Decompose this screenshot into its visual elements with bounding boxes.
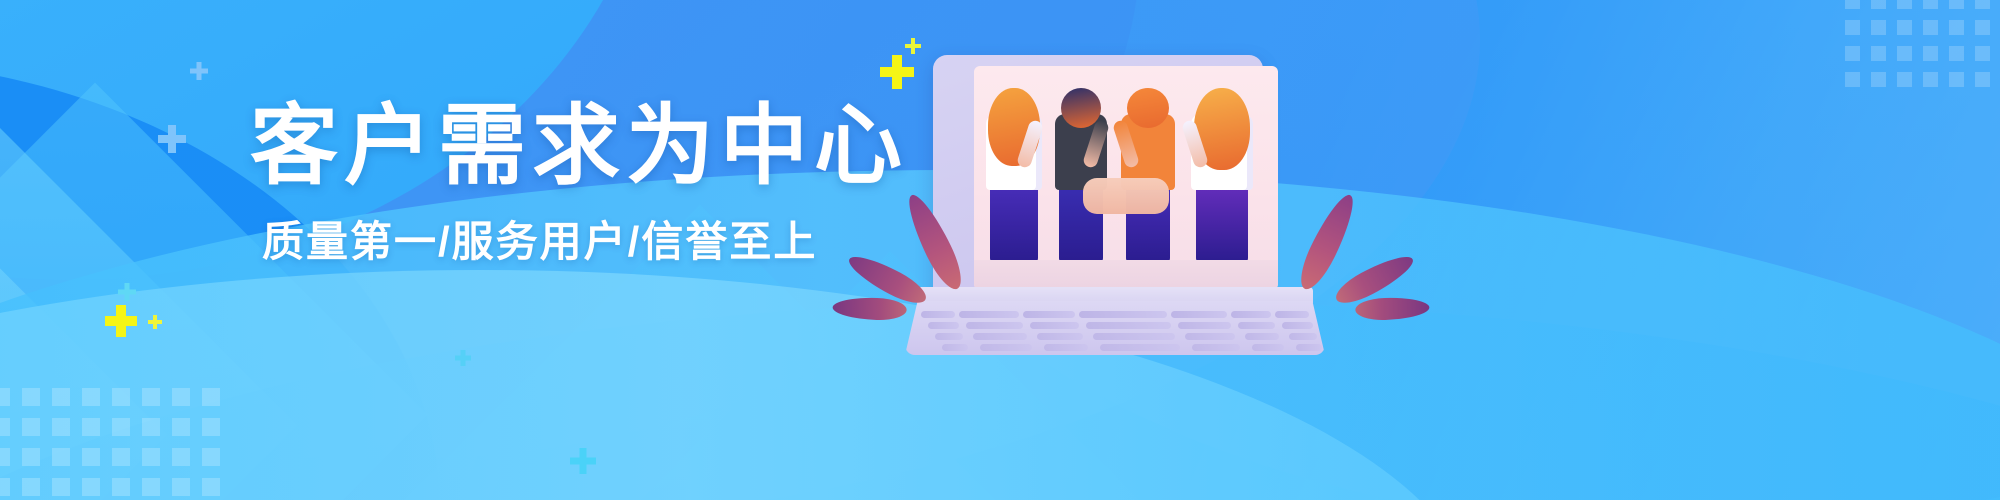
person-woman-right — [1182, 80, 1262, 264]
grid-dot — [112, 388, 130, 406]
keyboard-key — [1192, 344, 1240, 351]
person-man-right — [1114, 80, 1182, 264]
leaf-cluster-left — [951, 301, 961, 311]
grid-dot — [112, 448, 130, 466]
keyboard-key — [1093, 333, 1175, 340]
plus-white-mid-icon — [158, 125, 186, 153]
grid-dot — [142, 388, 160, 406]
keyboard-key — [973, 333, 1027, 340]
keyboard-key — [928, 322, 959, 329]
keyboard-key — [1100, 344, 1180, 351]
grid-dot — [0, 448, 10, 466]
keyboard-key — [1178, 322, 1231, 329]
keyboard-key — [935, 333, 963, 340]
grid-dot — [1871, 46, 1886, 61]
person-man-left — [1048, 80, 1114, 264]
plus-cyan-center-icon — [570, 448, 596, 474]
grid-dot — [142, 448, 160, 466]
keyboard-key — [921, 311, 955, 318]
grid-dot — [1923, 20, 1938, 35]
grid-dot — [1897, 20, 1912, 35]
grid-dot — [172, 418, 190, 436]
grid-dot — [0, 478, 10, 496]
keyboard-key — [1245, 333, 1279, 340]
leaf-cluster-right — [1301, 301, 1311, 311]
keyboard-key — [1044, 344, 1088, 351]
laptop-screen — [974, 66, 1278, 290]
person-hair — [1127, 88, 1169, 128]
grid-dot — [1949, 72, 1964, 87]
grid-dot — [202, 418, 220, 436]
person-legs — [1196, 178, 1249, 264]
keyboard-key — [966, 322, 1023, 329]
grid-dot — [1949, 46, 1964, 61]
grid-dot — [202, 388, 220, 406]
grid-dot — [1897, 72, 1912, 87]
keyboard-key — [1185, 333, 1235, 340]
grid-dot — [52, 418, 70, 436]
laptop-lid — [933, 55, 1263, 300]
laptop — [905, 55, 1325, 355]
grid-dot — [22, 478, 40, 496]
grid-dot — [82, 388, 100, 406]
grid-dot — [22, 388, 40, 406]
grid-dot — [1949, 0, 1964, 9]
grid-dot — [82, 448, 100, 466]
laptop-base — [905, 285, 1325, 355]
chevron-shape-3 — [0, 173, 167, 500]
plus-yellow-small-icon — [905, 38, 921, 54]
keyboard-key — [959, 311, 1019, 318]
keyboard-key — [1289, 333, 1317, 340]
laptop-hinge — [917, 287, 1313, 303]
grid-dot — [112, 418, 130, 436]
dot-grid-bottom-left — [0, 388, 232, 500]
grid-dot — [0, 418, 10, 436]
leaf-icon — [832, 296, 907, 321]
grid-dot — [172, 388, 190, 406]
grid-dot — [112, 478, 130, 496]
banner-copy: 客户需求为中心 质量第一/服务用户/信誉至上 — [250, 100, 870, 267]
grid-dot — [82, 478, 100, 496]
grid-dot — [172, 448, 190, 466]
plus-cyan-lowmid-icon — [455, 350, 471, 366]
grid-dot — [52, 478, 70, 496]
grid-dot — [1975, 72, 1990, 87]
keyboard-key — [1086, 322, 1171, 329]
grid-dot — [1975, 46, 1990, 61]
grid-dot — [1845, 0, 1860, 9]
plus-white-upper-icon — [190, 62, 208, 80]
person-legs — [990, 178, 1038, 264]
grid-dot — [202, 448, 220, 466]
promo-banner: 客户需求为中心 质量第一/服务用户/信誉至上 — [0, 0, 2000, 500]
grid-dot — [52, 388, 70, 406]
keyboard-key — [1282, 322, 1313, 329]
laptop-illustration — [905, 55, 1325, 355]
plus-yellow-bottom-icon — [105, 305, 137, 337]
person-hair — [1061, 88, 1101, 128]
grid-dot — [1845, 72, 1860, 87]
hands-stack-icon — [1083, 178, 1169, 214]
keyboard-key — [1079, 311, 1167, 318]
dot-grid-top-right — [1845, 0, 2000, 98]
keyboard-key — [1171, 311, 1227, 318]
grid-dot — [82, 418, 100, 436]
leaf-icon — [1355, 296, 1430, 321]
keyboard-key — [1252, 344, 1284, 351]
keyboard-key — [1275, 311, 1309, 318]
grid-dot — [202, 478, 220, 496]
grid-dot — [1897, 46, 1912, 61]
grid-dot — [1923, 0, 1938, 9]
grid-dot — [52, 448, 70, 466]
keyboard-key — [942, 344, 968, 351]
keyboard-key — [1037, 333, 1083, 340]
banner-subline: 质量第一/服务用户/信誉至上 — [262, 218, 870, 266]
grid-dot — [142, 418, 160, 436]
grid-dot — [1949, 20, 1964, 35]
grid-dot — [0, 388, 10, 406]
grid-dot — [142, 478, 160, 496]
grid-dot — [172, 478, 190, 496]
person-woman-left — [978, 80, 1050, 264]
grid-dot — [1975, 20, 1990, 35]
keyboard-key — [1238, 322, 1275, 329]
plus-cyan-bottom-icon — [118, 283, 136, 301]
plus-yellow-bottom-small-icon — [148, 315, 162, 329]
grid-dot — [1845, 20, 1860, 35]
keyboard-key — [1023, 311, 1075, 318]
laptop-keyboard-deck — [905, 301, 1325, 355]
grid-dot — [1975, 0, 1990, 9]
grid-dot — [1923, 72, 1938, 87]
grid-dot — [1923, 46, 1938, 61]
grid-dot — [22, 418, 40, 436]
keyboard-key — [980, 344, 1032, 351]
keyboard-key — [1030, 322, 1079, 329]
grid-dot — [1845, 46, 1860, 61]
grid-dot — [22, 448, 40, 466]
grid-dot — [1871, 72, 1886, 87]
grid-dot — [1897, 0, 1912, 9]
keyboard-key — [1231, 311, 1271, 318]
keyboard-key — [1296, 344, 1322, 351]
banner-headline: 客户需求为中心 — [250, 100, 870, 192]
grid-dot — [1871, 20, 1886, 35]
grid-dot — [1871, 0, 1886, 9]
